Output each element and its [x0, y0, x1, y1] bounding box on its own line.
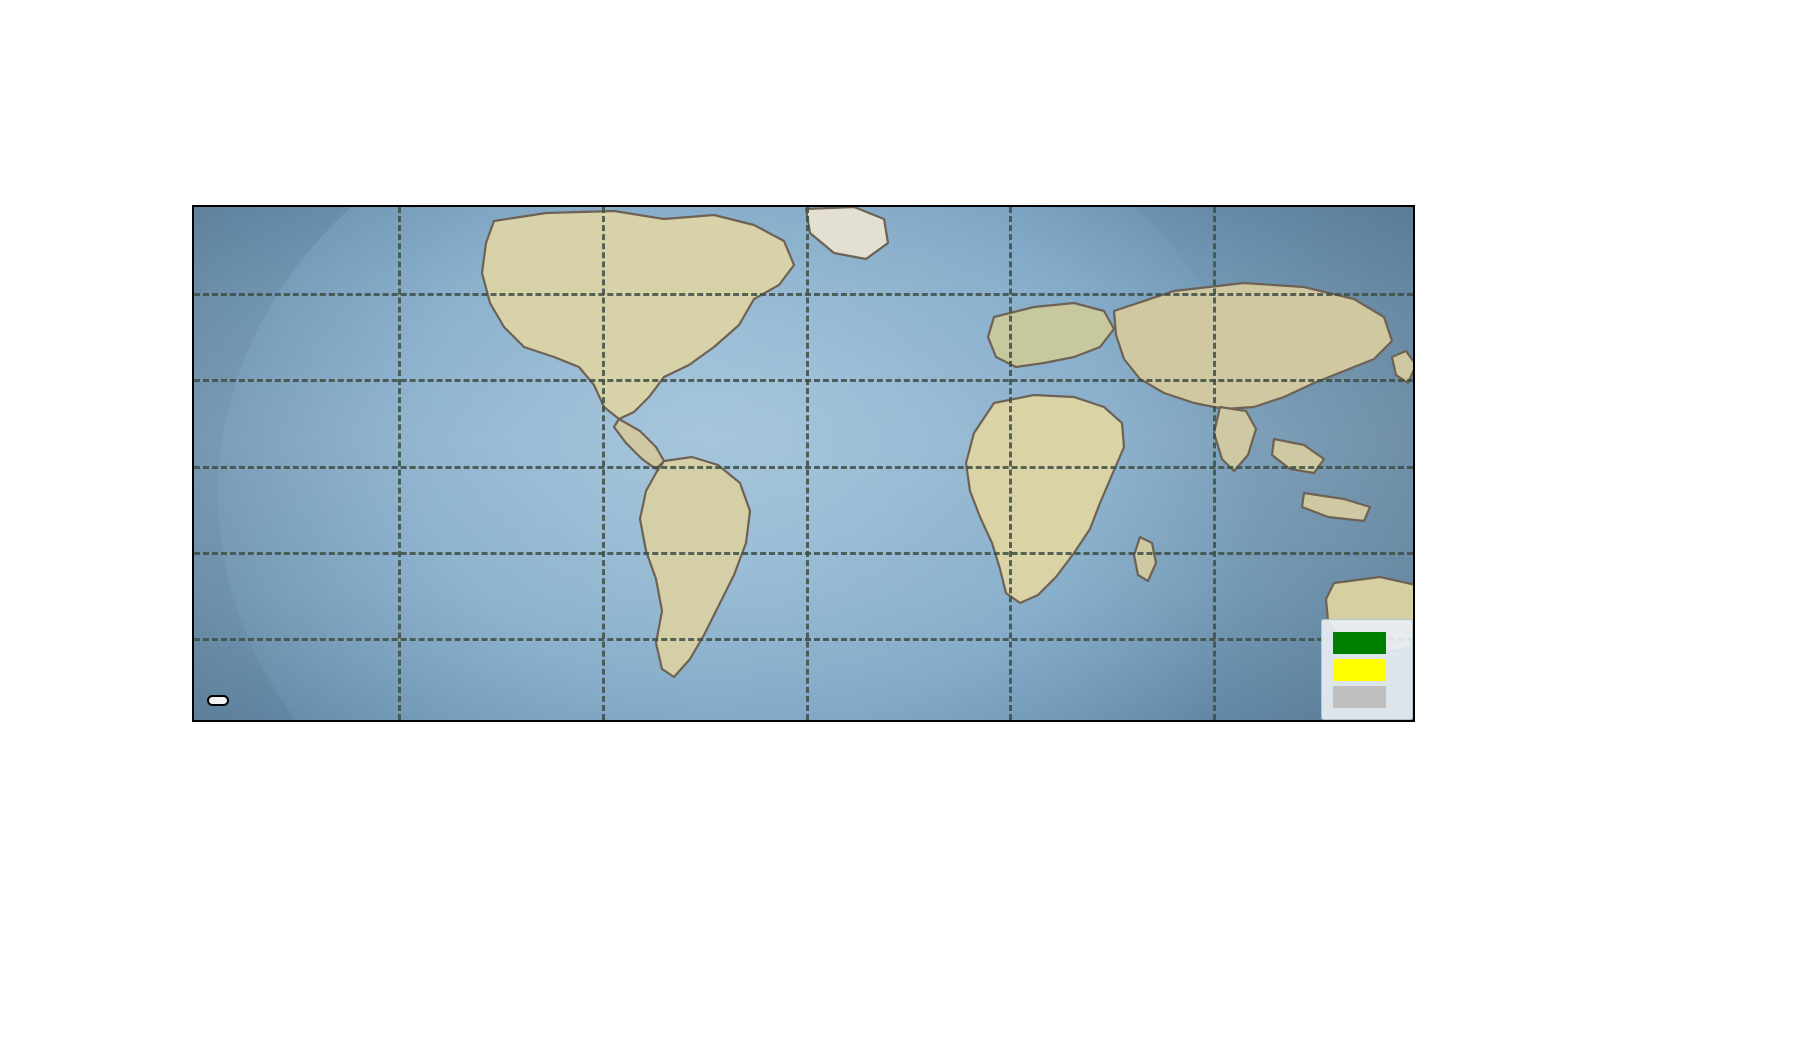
legend-swatch-possibly-clear	[1333, 659, 1386, 681]
legend	[1321, 619, 1413, 720]
frequency-annotation	[207, 695, 229, 706]
y-axis-title	[18, 205, 64, 722]
figure	[0, 0, 1800, 1050]
title-block	[0, 0, 1800, 34]
legend-item	[1333, 629, 1400, 656]
legend-item	[1333, 683, 1400, 710]
legend-swatch-probably-clear	[1333, 632, 1386, 654]
legend-swatch-no-specification	[1333, 686, 1386, 708]
ocean-background	[194, 207, 1413, 720]
map-plot-area	[192, 205, 1415, 722]
legend-item	[1333, 656, 1400, 683]
